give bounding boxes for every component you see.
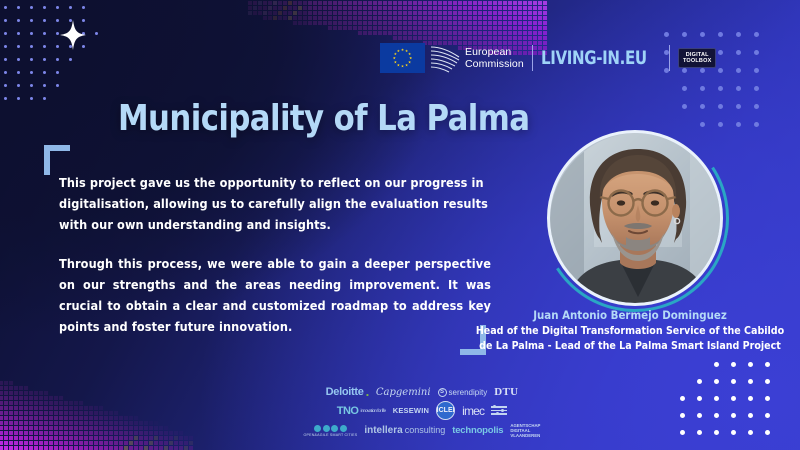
partner-logos: Deloitte.CapgeminiSserendipityDTUTNOinno… bbox=[298, 386, 546, 438]
attribution: Juan Antonio Bermejo Dominguez Head of t… bbox=[470, 308, 790, 354]
circle-icon bbox=[331, 425, 338, 432]
four-point-star-icon bbox=[60, 20, 86, 50]
avatar bbox=[550, 133, 720, 303]
circles-row bbox=[314, 425, 347, 432]
deloitte-logo[interactable]: Deloitte. bbox=[326, 386, 369, 398]
page-title: Municipality of La Palma bbox=[118, 98, 529, 139]
partner-logo-row: Deloitte.CapgeminiSserendipityDTU bbox=[298, 386, 546, 398]
portrait-ring bbox=[547, 130, 723, 306]
deloitte-dot-icon: . bbox=[366, 388, 369, 396]
circle-icon bbox=[323, 425, 330, 432]
tno-label: TNO bbox=[337, 405, 359, 417]
circles-label: OPEN&AGILE SMART CITIES bbox=[304, 433, 358, 437]
person-role: Head of the Digital Transformation Servi… bbox=[470, 324, 790, 354]
deloitte-label: Deloitte bbox=[326, 386, 364, 398]
circles-logo[interactable]: OPEN&AGILE SMART CITIES bbox=[304, 425, 358, 437]
pixel-mosaic-icon bbox=[0, 336, 194, 450]
european-commission-label: European Commission bbox=[465, 46, 524, 70]
serendipity-logo[interactable]: Sserendipity bbox=[438, 388, 488, 397]
eu-flag-stars-icon bbox=[380, 43, 425, 73]
eu-ribbon-icon bbox=[430, 43, 460, 73]
vlaanderen-label: AGENTSCHAPDIGITAALVLAANDEREN bbox=[510, 423, 540, 438]
partner-logo-row: TNOinnovation for lifeKESEWINICLEIimec bbox=[298, 401, 546, 420]
intellera-label: intellera bbox=[364, 426, 402, 435]
person-name: Juan Antonio Bermejo Dominguez bbox=[470, 308, 790, 323]
kesewin-logo[interactable]: KESEWIN bbox=[393, 406, 429, 415]
iclei-logo[interactable]: ICLEI bbox=[436, 401, 455, 420]
quote-block: This project gave us the opportunity to … bbox=[59, 172, 491, 337]
tno-tagline: innovation for life bbox=[360, 408, 385, 413]
toolbox-badge-line-2: TOOLBOX bbox=[683, 58, 712, 64]
capgemini-logo[interactable]: Capgemini bbox=[376, 387, 431, 398]
living-in-eu-wordmark[interactable]: LIVING-IN.EU bbox=[541, 47, 647, 69]
partner-logo-row: OPEN&AGILE SMART CITIESintelleraconsulti… bbox=[298, 423, 546, 438]
divider bbox=[532, 45, 533, 71]
person-role-line-1: Head of the Digital Transformation Servi… bbox=[470, 324, 790, 339]
line-icon bbox=[491, 413, 507, 415]
quote-paragraph-1: This project gave us the opportunity to … bbox=[59, 172, 491, 235]
line-icon bbox=[491, 410, 507, 412]
circle-icon bbox=[340, 425, 347, 432]
quote-bracket-open-icon bbox=[44, 145, 70, 175]
digital-toolbox-badge[interactable]: DIGITAL TOOLBOX bbox=[678, 48, 717, 68]
technopolis-logo[interactable]: technopolis bbox=[452, 425, 503, 436]
portrait-container bbox=[547, 130, 723, 306]
imec-logo[interactable]: imec bbox=[462, 404, 484, 418]
lines-logo[interactable] bbox=[491, 406, 507, 415]
ec-line-2: Commission bbox=[465, 58, 524, 70]
serendipity-mark-icon: S bbox=[438, 388, 447, 397]
dot-grid-icon bbox=[680, 362, 790, 442]
ec-line-1: European bbox=[465, 46, 524, 58]
european-commission-logo: European Commission bbox=[380, 43, 524, 73]
line-icon bbox=[491, 406, 507, 408]
intellera-sub: consulting bbox=[405, 426, 446, 435]
header-logo-bar: European Commission LIVING-IN.EU DIGITAL… bbox=[380, 41, 716, 75]
person-role-line-2: de La Palma - Lead of the La Palma Smart… bbox=[470, 339, 790, 354]
tno-logo[interactable]: TNOinnovation for life bbox=[337, 405, 386, 417]
digitaal-vlaanderen-logo[interactable]: AGENTSCHAPDIGITAALVLAANDEREN bbox=[510, 423, 540, 438]
divider bbox=[669, 45, 670, 71]
dtu-logo[interactable]: DTU bbox=[494, 386, 518, 398]
quote-paragraph-2: Through this process, we were able to ga… bbox=[59, 253, 491, 337]
slide-canvas: European Commission LIVING-IN.EU DIGITAL… bbox=[0, 0, 800, 450]
circle-icon bbox=[314, 425, 321, 432]
serendipity-label: serendipity bbox=[449, 388, 488, 397]
intellera-consulting-logo[interactable]: intelleraconsulting bbox=[364, 426, 445, 435]
